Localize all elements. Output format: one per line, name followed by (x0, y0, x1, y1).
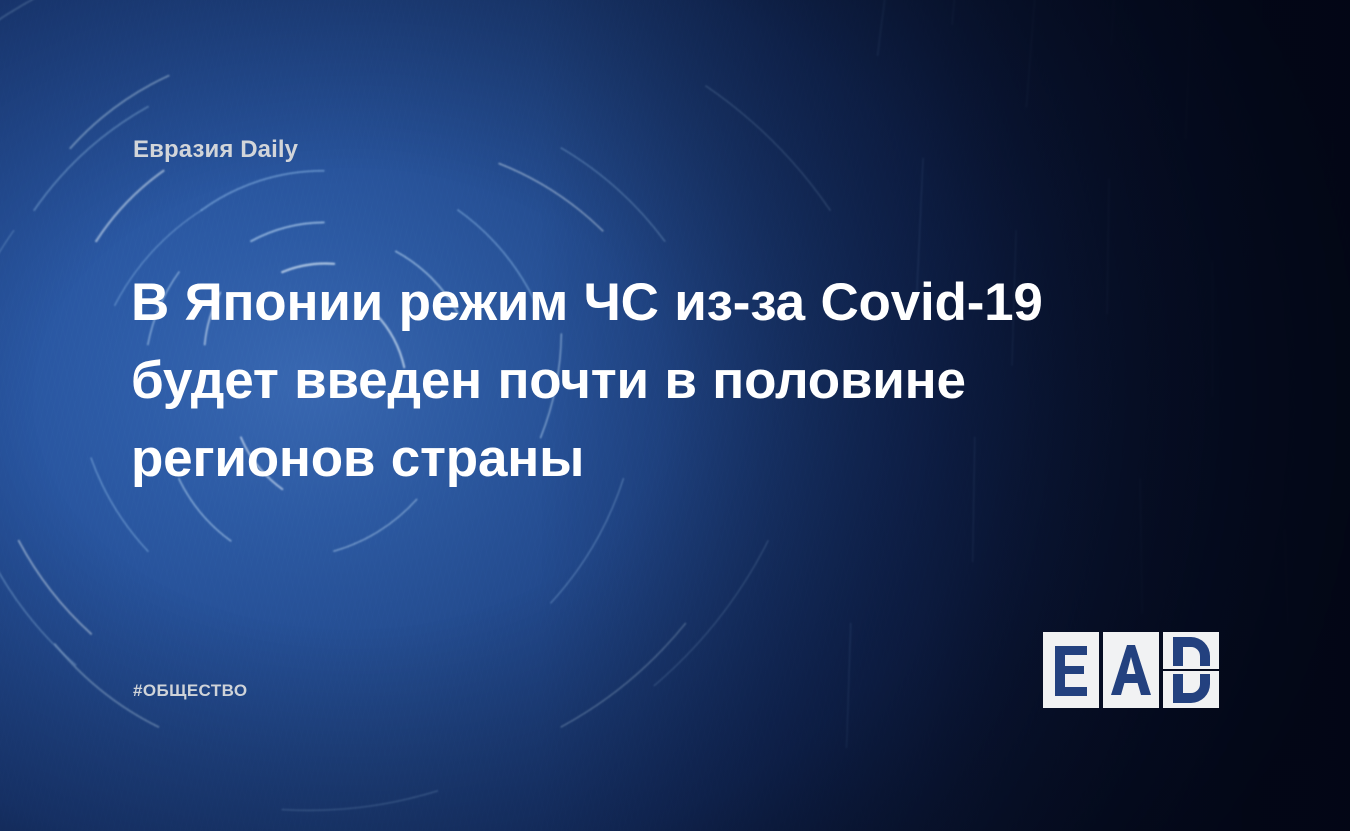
logo-letter-d-split (1163, 632, 1219, 708)
logo-letter-e (1043, 632, 1099, 708)
page-title: В Японии режим ЧС из-за Covid-19 будет в… (131, 264, 1091, 498)
logo-letter-a (1103, 632, 1159, 708)
category-tag[interactable]: #ОБЩЕСТВО (133, 681, 247, 701)
eadaily-logo[interactable] (1043, 632, 1219, 708)
card-content: Евразия Daily В Японии режим ЧС из-за Co… (0, 0, 1350, 831)
brand-name: Евразия Daily (133, 136, 298, 165)
social-share-card: Евразия Daily В Японии режим ЧС из-за Co… (0, 0, 1350, 831)
